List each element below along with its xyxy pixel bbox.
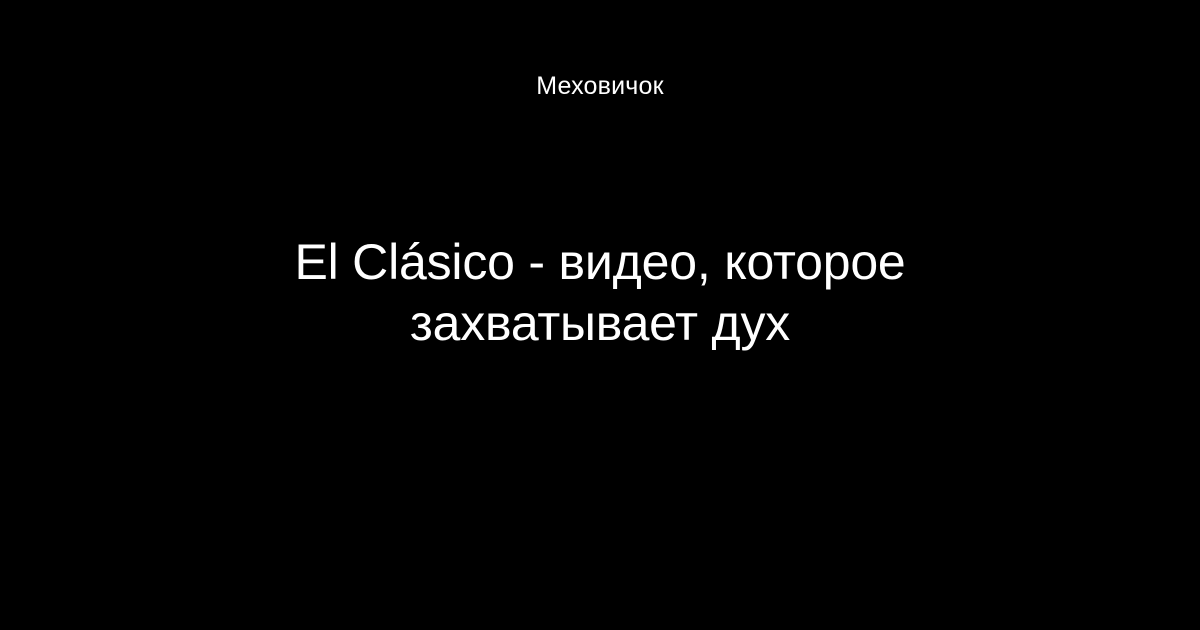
page-title: El Clásico - видео, которое захватывает …: [220, 232, 980, 354]
site-name: Меховичок: [536, 71, 664, 101]
share-card: Меховичок El Clásico - видео, которое за…: [0, 0, 1200, 630]
title-container: El Clásico - видео, которое захватывает …: [220, 232, 980, 354]
